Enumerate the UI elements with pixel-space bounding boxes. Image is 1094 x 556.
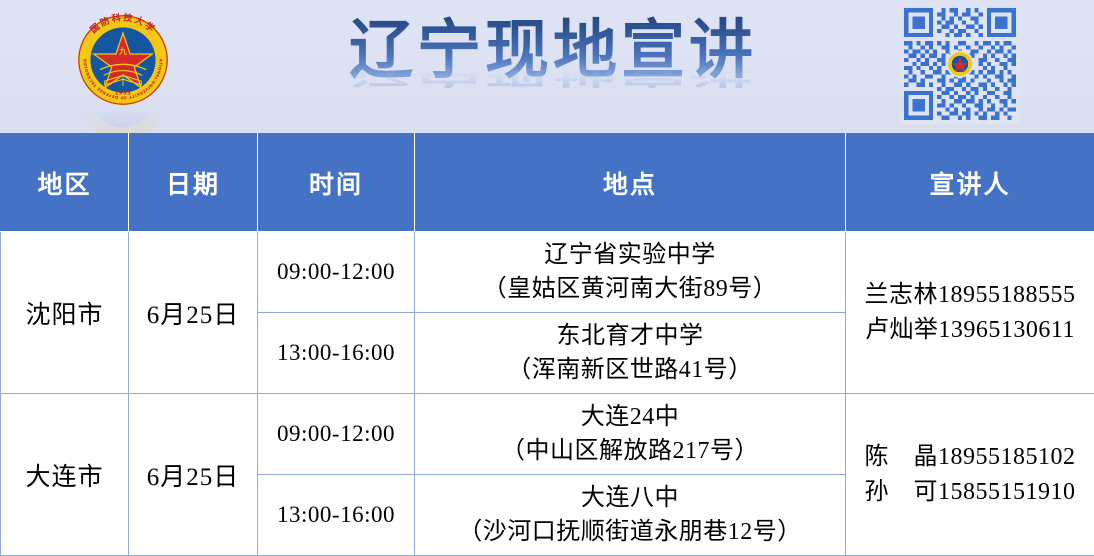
cell-time: 09:00-12:00 — [258, 394, 415, 475]
qr-code-icon — [900, 4, 1020, 124]
banner: 国防科技大学 NATIONAL UNIVERSITY OF DEFENSE TE… — [0, 0, 1094, 133]
presenter-line-2: 卢灿举13965130611 — [846, 313, 1094, 348]
svg-text:九: 九 — [118, 46, 127, 56]
place-name: 大连24中 — [415, 400, 845, 434]
column-header-region: 地区 — [1, 134, 129, 232]
table-header-row: 地区 日期 时间 地点 宣讲人 — [1, 134, 1094, 232]
cell-place: 辽宁省实验中学 （皇姑区黄河南大街89号） — [415, 232, 846, 313]
presenter-line-1: 兰志林18955188555 — [846, 278, 1094, 313]
nudt-emblem-icon: 国防科技大学 NATIONAL UNIVERSITY OF DEFENSE TE… — [75, 12, 171, 108]
place-name: 东北育才中学 — [415, 319, 845, 353]
cell-time: 13:00-16:00 — [258, 475, 415, 556]
place-address: （浑南新区世路41号） — [415, 353, 845, 387]
cell-region: 大连市 — [1, 394, 129, 556]
schedule-table: 地区 日期 时间 地点 宣讲人 沈阳市 6月25日 09:00-12:00 辽宁… — [0, 133, 1094, 556]
cell-place: 东北育才中学 （浑南新区世路41号） — [415, 313, 846, 394]
table-row: 大连市 6月25日 09:00-12:00 大连24中 （中山区解放路217号）… — [1, 394, 1094, 475]
column-header-time: 时间 — [258, 134, 415, 232]
cell-time: 13:00-16:00 — [258, 313, 415, 394]
svg-text:1953: 1953 — [115, 91, 131, 97]
cell-date: 6月25日 — [129, 394, 258, 556]
cell-presenter: 兰志林18955188555 卢灿举13965130611 — [846, 232, 1094, 394]
table-body: 沈阳市 6月25日 09:00-12:00 辽宁省实验中学 （皇姑区黄河南大街8… — [1, 232, 1094, 556]
column-header-presenter: 宣讲人 — [846, 134, 1094, 232]
table-header: 地区 日期 时间 地点 宣讲人 — [1, 134, 1094, 232]
page-title: 辽宁现地宣讲 — [318, 8, 788, 94]
presenter-line-1: 陈 晶18955185102 — [846, 440, 1094, 475]
presenter-line-2: 孙 可15855151910 — [846, 475, 1094, 510]
university-logo: 国防科技大学 NATIONAL UNIVERSITY OF DEFENSE TE… — [75, 12, 175, 130]
cell-time: 09:00-12:00 — [258, 232, 415, 313]
cell-date: 6月25日 — [129, 232, 258, 394]
column-header-place: 地点 — [415, 134, 846, 232]
cell-region: 沈阳市 — [1, 232, 129, 394]
logo-reflection — [75, 109, 171, 133]
cell-place: 大连八中 （沙河口抚顺街道永朋巷12号） — [415, 475, 846, 556]
column-header-date: 日期 — [129, 134, 258, 232]
place-address: （沙河口抚顺街道永朋巷12号） — [415, 515, 845, 549]
place-address: （皇姑区黄河南大街89号） — [415, 272, 845, 306]
qr-code[interactable] — [900, 4, 1020, 124]
cell-presenter: 陈 晶18955185102 孙 可15855151910 — [846, 394, 1094, 556]
place-name: 大连八中 — [415, 481, 845, 515]
table-row: 沈阳市 6月25日 09:00-12:00 辽宁省实验中学 （皇姑区黄河南大街8… — [1, 232, 1094, 313]
place-address: （中山区解放路217号） — [415, 434, 845, 468]
cell-place: 大连24中 （中山区解放路217号） — [415, 394, 846, 475]
poster-root: 国防科技大学 NATIONAL UNIVERSITY OF DEFENSE TE… — [0, 0, 1094, 553]
place-name: 辽宁省实验中学 — [415, 238, 845, 272]
banner-title-block: 辽宁现地宣讲 辽宁现地宣讲 — [318, 8, 788, 128]
